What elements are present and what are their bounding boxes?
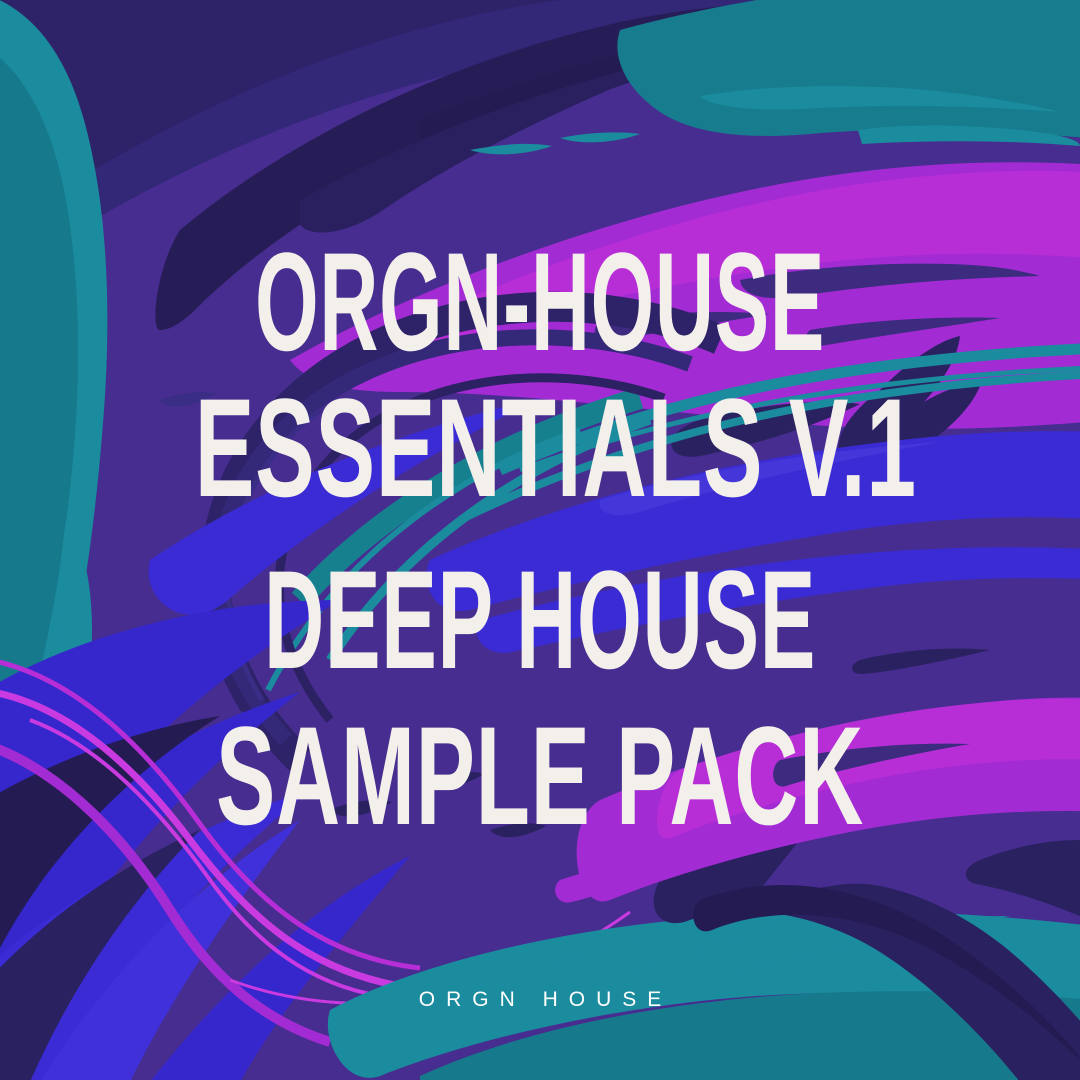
album-cover: ORGN-HOUSE ESSENTIALS V.1 DEEP HOUSE SAM…	[0, 0, 1080, 1080]
brand-wordmark: ORGN HOUSE	[0, 988, 1080, 1012]
stroke-teal-top-right	[617, 0, 1080, 140]
brushstroke-artwork	[0, 0, 1080, 1080]
